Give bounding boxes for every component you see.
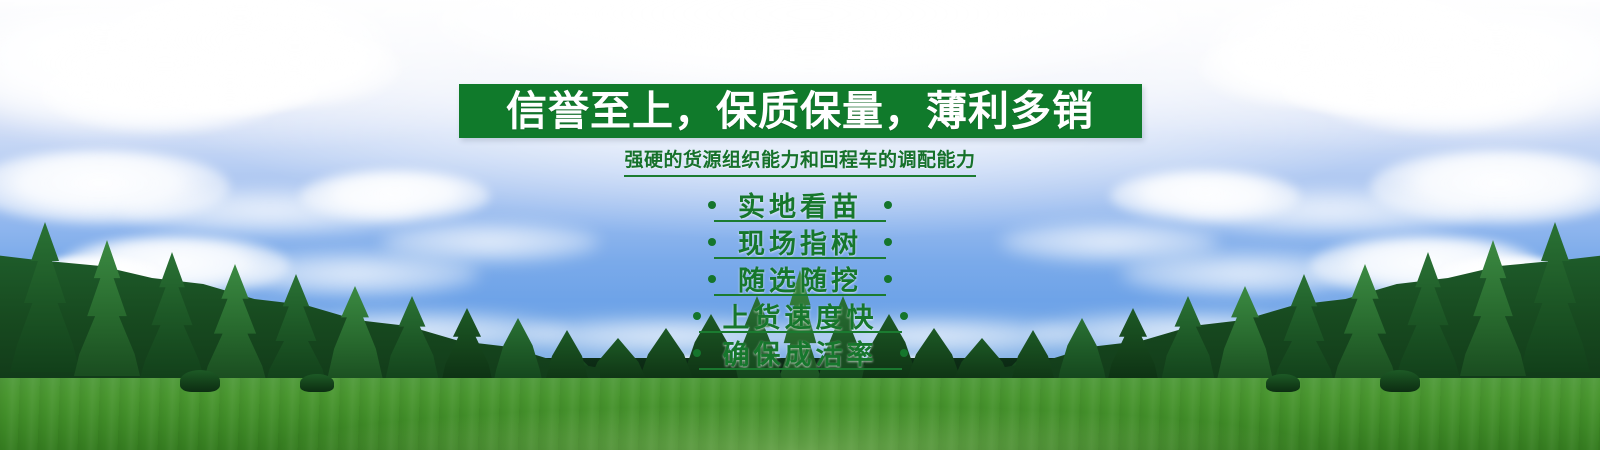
bullet-dot-icon (708, 238, 716, 246)
feature-label: 实地看苗 (738, 185, 862, 224)
bullet-dot-icon (900, 312, 908, 320)
feature-label: 上货速度快 (723, 296, 878, 335)
list-item[interactable]: 上货速度快 (689, 297, 912, 334)
bullet-dot-icon (693, 349, 701, 357)
feature-label: 现场指树 (738, 222, 862, 261)
headline-bar: 信誉至上，保质保量，薄利多销 (459, 84, 1142, 138)
feature-label: 确保成活率 (723, 333, 878, 372)
bullet-dot-icon (884, 238, 892, 246)
list-item[interactable]: 确保成活率 (689, 334, 912, 371)
promo-banner: 信誉至上，保质保量，薄利多销 强硬的货源组织能力和回程车的调配能力 实地看苗 现… (0, 0, 1600, 450)
banner-content: 信誉至上，保质保量，薄利多销 强硬的货源组织能力和回程车的调配能力 实地看苗 现… (0, 0, 1600, 450)
page-title: 信誉至上，保质保量，薄利多销 (506, 91, 1094, 132)
list-item[interactable]: 现场指树 (704, 223, 896, 260)
banner-subtitle: 强硬的货源组织能力和回程车的调配能力 (624, 145, 975, 177)
list-item[interactable]: 随选随挖 (704, 260, 896, 297)
bullet-dot-icon (708, 201, 716, 209)
feature-label: 随选随挖 (738, 259, 862, 298)
feature-list: 实地看苗 现场指树 随选随挖 上货速度快 (689, 186, 912, 371)
feature-separator (699, 368, 902, 370)
bullet-dot-icon (708, 275, 716, 283)
bullet-dot-icon (900, 349, 908, 357)
bullet-dot-icon (884, 275, 892, 283)
list-item[interactable]: 实地看苗 (704, 186, 896, 223)
bullet-dot-icon (693, 312, 701, 320)
bullet-dot-icon (884, 201, 892, 209)
